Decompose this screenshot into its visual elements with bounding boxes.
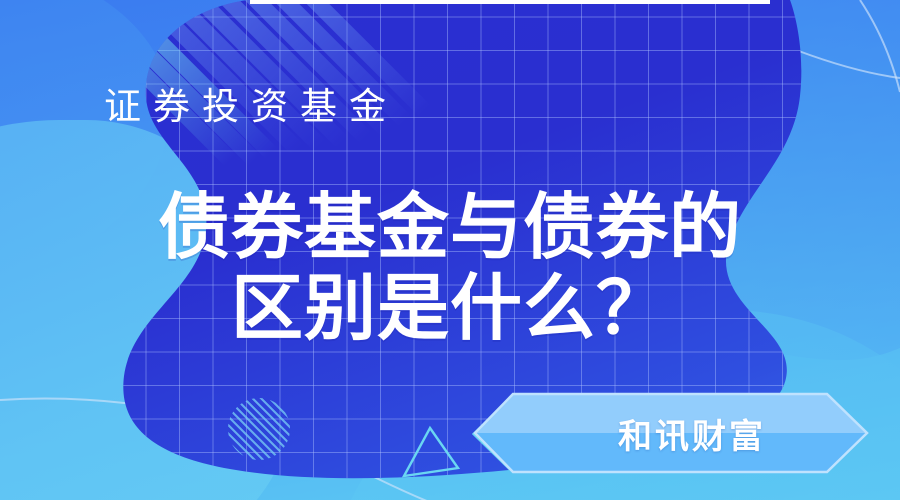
headline-line-2: 区别是什么？: [0, 269, 900, 350]
brand-banner: 和讯财富: [455, 392, 900, 474]
poster-canvas: 证券投资基金 债券基金与债券的 区别是什么？ 和讯财富: [0, 0, 900, 500]
halftone-circle: [228, 398, 290, 460]
brand-label: 和讯财富: [567, 409, 817, 458]
headline-line-1: 债券基金与债券的: [158, 188, 742, 268]
headline: 债券基金与债券的 区别是什么？: [0, 188, 900, 349]
top-white-strip: [250, 0, 770, 4]
kicker-text: 证券投资基金: [104, 76, 398, 130]
